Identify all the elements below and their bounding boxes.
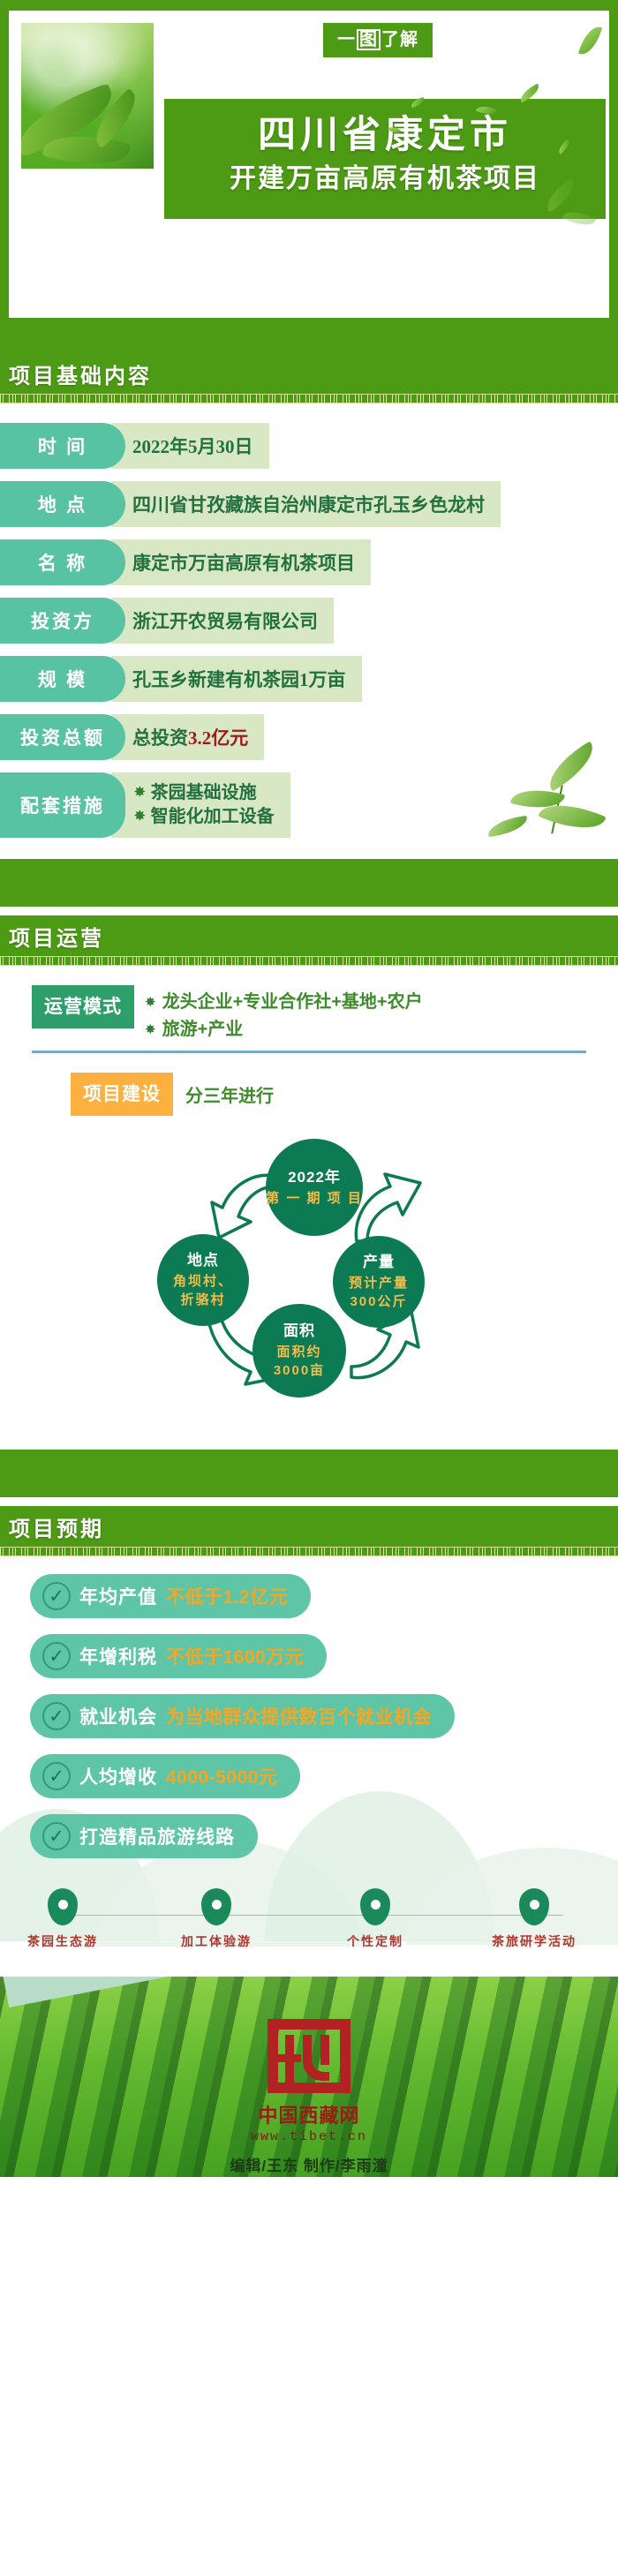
- cycle-diagram: 2022年 第 一 期 项 目 产量 预计产量 300公斤 面积 面积约 300…: [0, 1121, 618, 1450]
- expectation-pill: ✓ 年增利税 不低于1600万元: [30, 1634, 327, 1678]
- investment-amount: 3.2亿元: [188, 724, 248, 750]
- badge-boxed-char: 图: [357, 29, 381, 50]
- pin-item: 茶园生态游: [5, 1888, 120, 1950]
- green-band: [0, 859, 618, 907]
- row-label: 时 间: [0, 423, 125, 469]
- check-icon: ✓: [42, 1822, 71, 1850]
- cycle-node-area: 面积 面积约 3000亩: [252, 1304, 346, 1397]
- table-row: 地 点 四川省甘孜藏族自治州康定市孔玉乡色龙村: [0, 481, 618, 527]
- expectation-pill: ✓ 年均产值 不低于1.2亿元: [30, 1574, 311, 1618]
- list-item: ✓ 就业机会 为当地群众提供数百个就业机会: [0, 1694, 618, 1754]
- node-title: 地点: [187, 1251, 219, 1270]
- node-subtitle: 预计产量 300公斤: [349, 1275, 409, 1311]
- expectation-pill: ✓ 就业机会 为当地群众提供数百个就业机会: [30, 1694, 455, 1738]
- tea-leaf-photo: [21, 23, 154, 169]
- location-pin-icon: [519, 1888, 549, 1925]
- pin-label: 茶旅研学活动: [477, 1932, 592, 1950]
- list-item: ✸ 龙头企业+专业合作社+基地+农户: [145, 989, 423, 1016]
- row-label: 规 模: [0, 656, 125, 702]
- clover-bullet-icon: ✸: [134, 808, 146, 825]
- tourism-route-pins: 茶园生态游 加工体验游 个性定制 茶旅研学活动: [0, 1888, 618, 1970]
- project-build-tag: 项目建设: [71, 1073, 173, 1116]
- row-label: 投资方: [0, 598, 125, 644]
- table-row: 规 模 孔玉乡新建有机茶园1万亩: [0, 656, 618, 702]
- cycle-node-year: 2022年 第 一 期 项 目: [266, 1139, 363, 1236]
- green-band: [0, 1450, 618, 1497]
- expectation-pill: ✓ 人均增收 4000-5000元: [30, 1754, 300, 1798]
- row-label: 地 点: [0, 481, 125, 527]
- node-title: 产量: [363, 1253, 395, 1272]
- list-item-label: 茶园基础设施: [151, 781, 257, 805]
- list-item-label: 智能化加工设备: [151, 805, 275, 829]
- list-item-label: 龙头企业+专业合作社+基地+农户: [162, 989, 423, 1016]
- project-build-text: 分三年进行: [173, 1081, 274, 1107]
- section-header-basic: 项目基础内容: [0, 353, 618, 394]
- check-icon: ✓: [42, 1702, 71, 1730]
- clover-bullet-icon: ✸: [145, 992, 156, 1013]
- row-value: 孔玉乡新建有机茶园1万亩: [111, 656, 362, 702]
- infographic-page: 一图了解 四川省康定市 开建万亩高原有机茶项目 项目基础内容 时 间 2022年…: [0, 0, 618, 2177]
- location-pin-icon: [360, 1888, 390, 1925]
- section-title-expectation: 项目预期: [0, 1506, 618, 1542]
- fret-divider: [0, 1547, 618, 1556]
- band-gap: [0, 1497, 618, 1506]
- row-value: ✸ 茶园基础设施 ✸ 智能化加工设备: [111, 772, 290, 838]
- expectation-key: 年均产值: [79, 1583, 157, 1609]
- operation-mode-lines: ✸ 龙头企业+专业合作社+基地+农户 ✸ 旅游+产业: [134, 985, 423, 1043]
- pin-label: 加工体验游: [159, 1932, 274, 1950]
- pin-label: 个性定制: [318, 1932, 433, 1950]
- expectation-key: 打造精品旅游线路: [79, 1823, 235, 1849]
- operation-mode-tag: 运营模式: [32, 985, 134, 1028]
- fret-divider: [0, 956, 618, 966]
- footer-banner: 中国西藏网 www.tibet.cn 编辑/王东 制作/李雨潼: [0, 1977, 618, 2177]
- location-pin-icon: [48, 1888, 78, 1925]
- operation-mode-block: 运营模式 ✸ 龙头企业+专业合作社+基地+农户 ✸ 旅游+产业: [0, 985, 618, 1043]
- list-item: ✓ 人均增收 4000-5000元: [0, 1754, 618, 1814]
- row-value: 2022年5月30日: [111, 423, 269, 469]
- row-value: 浙江开农贸易有限公司: [111, 598, 334, 644]
- row-value: 康定市万亩高原有机茶项目: [111, 539, 371, 585]
- cycle-node-output: 产量 预计产量 300公斤: [333, 1236, 425, 1328]
- table-row: 名 称 康定市万亩高原有机茶项目: [0, 539, 618, 585]
- band-gap: [0, 907, 618, 915]
- fret-divider: [0, 394, 618, 403]
- pin-label: 茶园生态游: [5, 1932, 120, 1950]
- section-header-expectation: 项目预期: [0, 1506, 618, 1547]
- divider-rule: [32, 1051, 586, 1053]
- expectation-value: 不低于1.2亿元: [166, 1583, 288, 1609]
- site-url: www.tibet.cn: [0, 2129, 618, 2144]
- decorative-leaves: [459, 749, 609, 855]
- check-icon: ✓: [42, 1642, 71, 1670]
- badge-suffix: 了解: [381, 30, 418, 49]
- node-subtitle: 角坝村、 折骆村: [173, 1273, 233, 1309]
- project-build-block: 项目建设 分三年进行: [0, 1073, 618, 1116]
- expectation-key: 就业机会: [79, 1703, 157, 1729]
- basic-info-list: 时 间 2022年5月30日 地 点 四川省甘孜藏族自治州康定市孔玉乡色龙村 名…: [0, 403, 618, 859]
- hero-header: 一图了解 四川省康定市 开建万亩高原有机茶项目: [0, 0, 618, 353]
- expectation-area: ✓ 年均产值 不低于1.2亿元 ✓ 年增利税 不低于1600万元 ✓ 就业机会 …: [0, 1556, 618, 1977]
- row-label: 名 称: [0, 539, 125, 585]
- clover-bullet-icon: ✸: [145, 1020, 156, 1040]
- footer-logo-block: 中国西藏网 www.tibet.cn 编辑/王东 制作/李雨潼: [0, 2015, 618, 2175]
- row-value: 总投资3.2亿元: [111, 714, 264, 760]
- hero-white-panel: 一图了解 四川省康定市 开建万亩高原有机茶项目: [9, 11, 609, 318]
- list-item: ✓ 年均产值 不低于1.2亿元: [0, 1574, 618, 1634]
- leaf-icon: [486, 816, 529, 837]
- check-icon: ✓: [42, 1582, 71, 1610]
- list-item-label: 旅游+产业: [162, 1016, 244, 1043]
- table-row: 投资方 浙江开农贸易有限公司: [0, 598, 618, 644]
- section-title-basic: 项目基础内容: [0, 353, 618, 389]
- investment-prefix: 总投资: [132, 724, 188, 750]
- section-header-operation: 项目运营: [0, 915, 618, 956]
- leaf-icon: [540, 741, 602, 791]
- list-item: ✸ 智能化加工设备: [134, 805, 275, 829]
- node-title: 2022年: [288, 1168, 341, 1187]
- row-label: 配套措施: [0, 772, 125, 838]
- page-title: 四川省康定市: [173, 115, 597, 157]
- node-subtitle: 面积约 3000亩: [274, 1344, 325, 1380]
- row-label: 投资总额: [0, 714, 125, 760]
- hero-title-block: 四川省康定市 开建万亩高原有机茶项目: [164, 99, 606, 219]
- location-pin-icon: [201, 1888, 231, 1925]
- pin-item: 加工体验游: [159, 1888, 274, 1950]
- clover-bullet-icon: ✸: [134, 784, 146, 802]
- row-value: 四川省甘孜藏族自治州康定市孔玉乡色龙村: [111, 481, 501, 527]
- badge-prefix: 一: [337, 30, 356, 49]
- credits-line: 编辑/王东 制作/李雨潼: [0, 2153, 618, 2175]
- node-subtitle: 第 一 期 项 目: [266, 1190, 363, 1208]
- check-icon: ✓: [42, 1762, 71, 1790]
- expectation-value: 不低于1600万元: [166, 1643, 304, 1669]
- operation-area: 运营模式 ✸ 龙头企业+专业合作社+基地+农户 ✸ 旅游+产业 项目建设 分三年…: [0, 966, 618, 1121]
- list-item: ✸ 茶园基础设施: [134, 781, 257, 805]
- tibet-logo-glyph: [264, 2015, 354, 2097]
- table-row: 时 间 2022年5月30日: [0, 423, 618, 469]
- cycle-node-location: 地点 角坝村、 折骆村: [157, 1234, 249, 1326]
- node-title: 面积: [283, 1322, 315, 1341]
- pin-item: 个性定制: [318, 1888, 433, 1950]
- section-title-operation: 项目运营: [0, 915, 618, 952]
- expectation-key: 人均增收: [79, 1763, 157, 1789]
- site-name: 中国西藏网: [0, 2100, 618, 2128]
- list-item: ✓ 年增利税 不低于1600万元: [0, 1634, 618, 1694]
- expectation-pill: ✓ 打造精品旅游线路: [30, 1814, 258, 1858]
- expectation-value: 为当地群众提供数百个就业机会: [166, 1703, 432, 1729]
- tibet-logo-icon: [264, 2015, 354, 2097]
- page-subtitle: 开建万亩高原有机茶项目: [173, 162, 597, 196]
- expectation-value: 4000-5000元: [166, 1763, 277, 1789]
- one-picture-badge: 一图了解: [323, 23, 433, 57]
- list-item: ✸ 旅游+产业: [145, 1016, 423, 1043]
- pin-item: 茶旅研学活动: [477, 1888, 592, 1950]
- expectation-key: 年增利税: [79, 1643, 157, 1669]
